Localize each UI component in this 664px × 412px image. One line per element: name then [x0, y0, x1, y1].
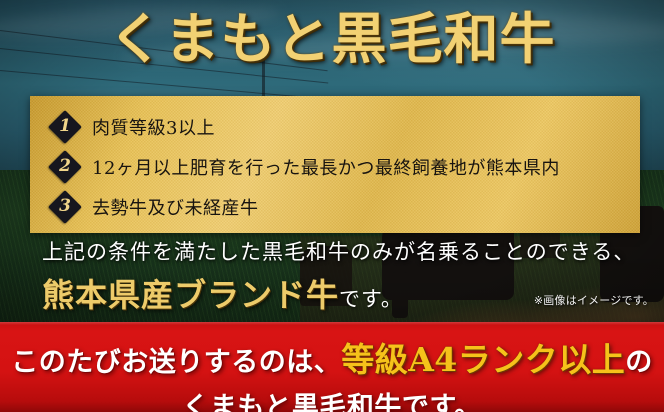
banner-prefix: このたびお送りするのは、	[11, 347, 341, 378]
image-disclaimer: ※画像はイメージです。	[534, 292, 654, 308]
list-item: 2 12ヶ月以上肥育を行った最長かつ最終飼養地が熊本県内	[50, 147, 640, 187]
brand-suffix: です。	[339, 287, 403, 311]
middle-copy-line1: 上記の条件を満たした黒毛和牛のみが名乗ることのできる、	[42, 236, 664, 266]
conditions-panel: 1 肉質等級3以上 2 12ヶ月以上肥育を行った最長かつ最終飼養地が熊本県内 3…	[30, 96, 640, 233]
banner-highlight-grade: 等級A4ランク以上	[341, 340, 625, 379]
list-item-number: 2	[50, 152, 80, 182]
diamond-number-icon: 2	[50, 152, 80, 182]
bottom-red-banner: このたびお送りするのは、等級A4ランク以上の くまもと黒毛和牛です。	[0, 322, 664, 412]
diamond-number-icon: 1	[50, 112, 80, 142]
diamond-number-icon: 3	[50, 192, 80, 222]
banner-line-1: このたびお送りするのは、等級A4ランク以上の	[0, 333, 664, 381]
list-item-label: 去勢牛及び未経産牛	[92, 194, 259, 220]
conditions-list: 1 肉質等級3以上 2 12ヶ月以上肥育を行った最長かつ最終飼養地が熊本県内 3…	[30, 96, 640, 227]
banner-line-2: くまもと黒毛和牛です。	[0, 385, 664, 412]
list-item-number: 1	[50, 112, 80, 142]
list-item: 1 肉質等級3以上	[50, 107, 640, 147]
banner-suffix: の	[625, 347, 653, 378]
page-title: くまもと黒毛和牛	[0, 8, 664, 70]
list-item-number: 3	[50, 192, 80, 222]
list-item-label: 肉質等級3以上	[92, 114, 215, 140]
list-item-label: 12ヶ月以上肥育を行った最長かつ最終飼養地が熊本県内	[92, 154, 560, 180]
list-item: 3 去勢牛及び未経産牛	[50, 187, 640, 227]
banner-product-name: くまもと黒毛和牛です。	[182, 392, 481, 412]
promo-banner: くまもと黒毛和牛 1 肉質等級3以上 2 12ヶ月以上肥育を行った最長かつ最終飼…	[0, 0, 664, 412]
brand-name: 熊本県産ブランド牛	[42, 276, 339, 314]
